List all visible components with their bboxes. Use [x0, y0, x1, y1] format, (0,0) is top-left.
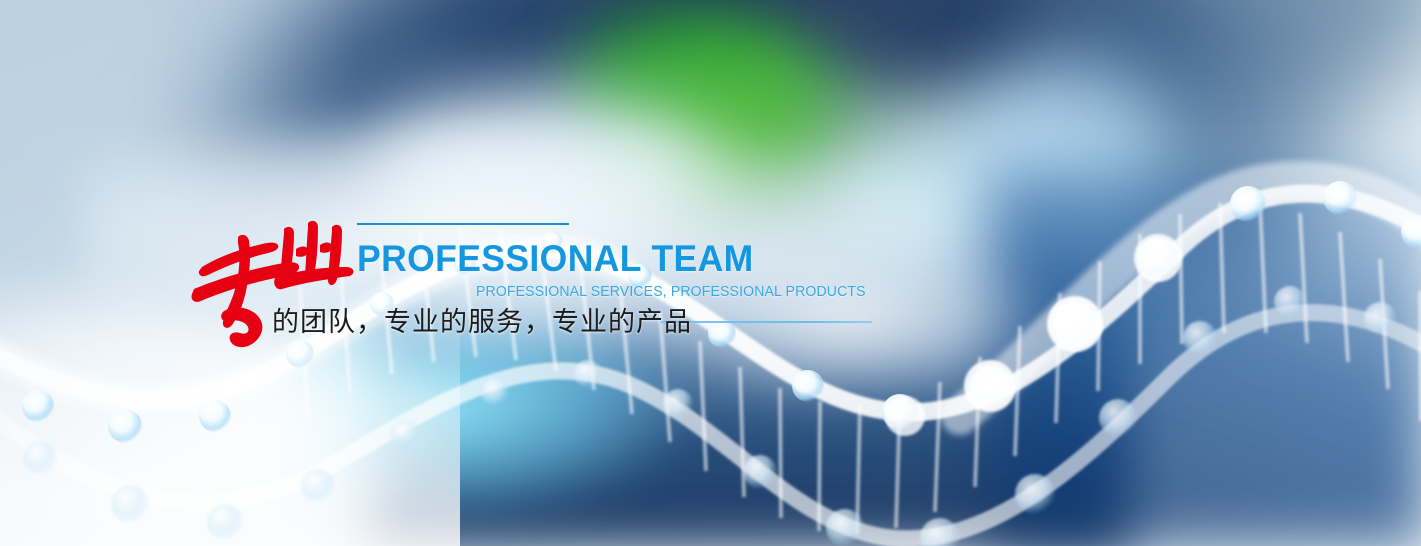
page-subtitle: PROFESSIONAL SERVICES, PROFESSIONAL PROD…	[476, 285, 866, 300]
chinese-calligraphy-seal-icon	[188, 205, 358, 353]
banner-content: PROFESSIONAL TEAM PROFESSIONAL SERVICES,…	[0, 0, 1421, 546]
page-title: PROFESSIONAL TEAM	[357, 240, 754, 277]
hero-banner: PROFESSIONAL TEAM PROFESSIONAL SERVICES,…	[0, 0, 1421, 546]
decor-rule-top	[357, 223, 569, 225]
